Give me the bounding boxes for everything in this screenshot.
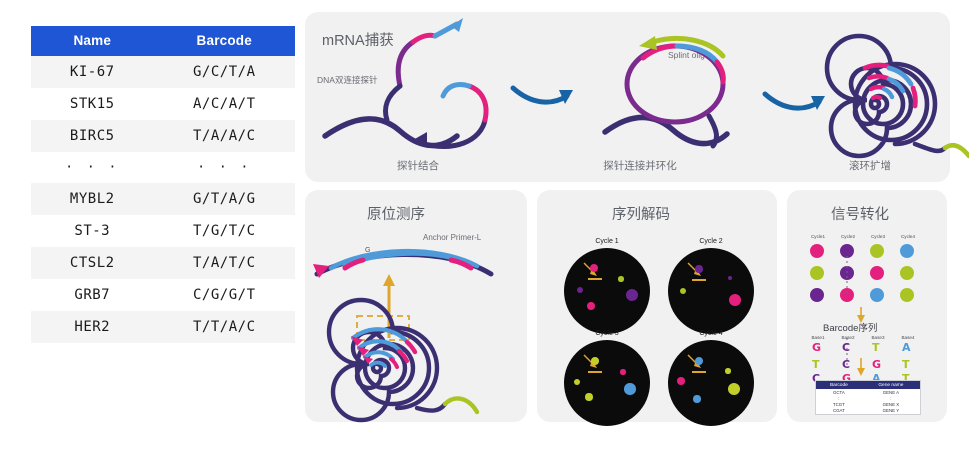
cell-barcode: T/A/T/C — [154, 247, 295, 279]
column-header-name: Name — [31, 26, 154, 56]
caption-probe-binding: 探针结合 — [363, 158, 473, 173]
cell-barcode: · · · — [154, 152, 295, 183]
signal-dot — [591, 357, 599, 365]
cell-gene-name: ST-3 — [31, 215, 154, 247]
signal-cycle-label: Cycle3 — [867, 234, 889, 239]
signal-dot — [585, 393, 592, 400]
signal-grid-dot — [810, 288, 824, 302]
in-situ-sequencing-illustration — [305, 190, 527, 422]
cell-barcode: T/G/T/C — [154, 215, 295, 247]
cycle-label: Cycle 3 — [564, 330, 650, 337]
signal-dot — [620, 369, 625, 374]
cell-gene-name: HER2 — [31, 311, 154, 343]
signal-dot — [587, 302, 595, 310]
table-header-row: Name Barcode — [31, 26, 295, 56]
panel-sequence-decoding: 序列解码 Cycle 1 Cycle 2 — [537, 190, 777, 422]
panel-signal-conversion: 信号转化 Cycle1 Cycle2 Cycle3 Cycle4 Barcode… — [787, 190, 947, 422]
signal-grid-dot — [870, 288, 884, 302]
signal-dot — [624, 383, 636, 395]
table-row: HER2T/T/A/C — [31, 311, 295, 343]
barcode-letter: G — [812, 341, 821, 354]
cycle-label: Cycle 4 — [668, 330, 754, 337]
cell-barcode: G/T/A/G — [154, 183, 295, 215]
cycle-3-group: Cycle 3 — [564, 330, 650, 426]
signal-grid-dot — [810, 266, 824, 280]
barcode-letter: G — [872, 358, 881, 371]
cell-gene-name: STK15 — [31, 88, 154, 120]
barcode-letter: A — [902, 341, 911, 354]
table-row: BIRC5T/A/A/C — [31, 120, 295, 152]
highlight-underline — [692, 279, 706, 281]
signal-dot — [695, 265, 702, 272]
cycle-circle — [668, 340, 754, 426]
lookup-cell-barcode: CGAT — [816, 408, 862, 414]
caption-rolling-circle: 滚环扩增 — [815, 158, 925, 173]
lookup-header-row: Barcode Gene name — [816, 381, 920, 389]
signal-grid-dot — [900, 288, 914, 302]
barcode-letter: T — [902, 358, 910, 371]
table-row: STK15A/C/A/T — [31, 88, 295, 120]
signal-grid-dot — [870, 244, 884, 258]
barcode-sequence-title: Barcode序列 — [823, 320, 877, 334]
lookup-row: CGAT GENE Y — [816, 408, 920, 414]
lookup-col-gene-name: Gene name — [862, 381, 920, 389]
cell-gene-name: GRB7 — [31, 279, 154, 311]
barcode-letter: C — [842, 358, 850, 371]
table-row: ST-3T/G/T/C — [31, 215, 295, 247]
cycle-label: Cycle 2 — [668, 238, 754, 245]
signal-cycle-label: Cycle1 — [807, 234, 829, 239]
diagram-canvas: Name Barcode KI-67G/C/T/A STK15A/C/A/T B… — [0, 0, 969, 452]
panel-title-signal-conversion: 信号转化 — [831, 203, 889, 224]
signal-cycle-label: Cycle2 — [837, 234, 859, 239]
signal-base-label: Base3 — [867, 335, 889, 340]
signal-dot — [693, 395, 700, 402]
cell-barcode: T/T/A/C — [154, 311, 295, 343]
cycle-circle — [668, 248, 754, 334]
cell-barcode: C/G/G/T — [154, 279, 295, 311]
barcode-letter: C — [842, 341, 850, 354]
table-row: GRB7C/G/G/T — [31, 279, 295, 311]
signal-grid-dot — [840, 244, 854, 258]
cycle-2-group: Cycle 2 — [668, 238, 754, 334]
panel-in-situ-sequencing: 原位测序 Anchor Primer-L G — [305, 190, 527, 422]
cycle-1-group: Cycle 1 — [564, 238, 650, 334]
signal-dot — [577, 287, 583, 293]
signal-grid-dot — [810, 244, 824, 258]
gene-barcode-table: Name Barcode KI-67G/C/T/A STK15A/C/A/T B… — [31, 26, 295, 343]
signal-base-label: Base2 — [837, 335, 859, 340]
table-row: CTSL2T/A/T/C — [31, 247, 295, 279]
table-row: KI-67G/C/T/A — [31, 56, 295, 88]
barcode-gene-lookup-table: Barcode Gene name GCTA GENE A : : TCGT G… — [815, 380, 921, 415]
cycle-circle — [564, 340, 650, 426]
highlight-underline — [692, 371, 706, 373]
cell-gene-name: BIRC5 — [31, 120, 154, 152]
lookup-col-barcode: Barcode — [816, 381, 862, 389]
panel-mrna-capture: mRNA捕获 DNA双连接探针 Splint oligo — [305, 12, 950, 182]
lookup-cell-gene: GENE Y — [862, 408, 920, 414]
signal-dot — [725, 368, 730, 373]
cell-gene-name: · · · — [31, 152, 154, 183]
signal-cycle-label: Cycle4 — [897, 234, 919, 239]
column-header-barcode: Barcode — [154, 26, 295, 56]
barcode-letter: T — [812, 358, 820, 371]
table-row: MYBL2G/T/A/G — [31, 183, 295, 215]
cell-barcode: T/A/A/C — [154, 120, 295, 152]
signal-grid-dot — [900, 266, 914, 280]
signal-grid-dot — [840, 288, 854, 302]
mrna-capture-illustration — [305, 12, 950, 182]
cycle-circle — [564, 248, 650, 334]
table-row-ellipsis: · · ·· · · — [31, 152, 295, 183]
cell-gene-name: CTSL2 — [31, 247, 154, 279]
barcode-letter: T — [872, 341, 880, 354]
cell-barcode: A/C/A/T — [154, 88, 295, 120]
cell-barcode: G/C/T/A — [154, 56, 295, 88]
highlight-underline — [588, 278, 602, 280]
cell-gene-name: KI-67 — [31, 56, 154, 88]
signal-dot — [618, 276, 623, 281]
cell-gene-name: MYBL2 — [31, 183, 154, 215]
highlight-underline — [588, 371, 602, 373]
signal-grid-dot — [840, 266, 854, 280]
signal-grid-dot — [900, 244, 914, 258]
panel-title-sequence-decoding: 序列解码 — [612, 203, 670, 224]
signal-grid-dot — [870, 266, 884, 280]
signal-base-label: Base1 — [807, 335, 829, 340]
cycle-4-group: Cycle 4 — [668, 330, 754, 426]
signal-base-label: Base4 — [897, 335, 919, 340]
signal-dot — [677, 377, 685, 385]
signal-dot — [695, 357, 703, 365]
caption-ligation-circularization: 探针连接并环化 — [580, 158, 700, 173]
cycle-label: Cycle 1 — [564, 238, 650, 245]
